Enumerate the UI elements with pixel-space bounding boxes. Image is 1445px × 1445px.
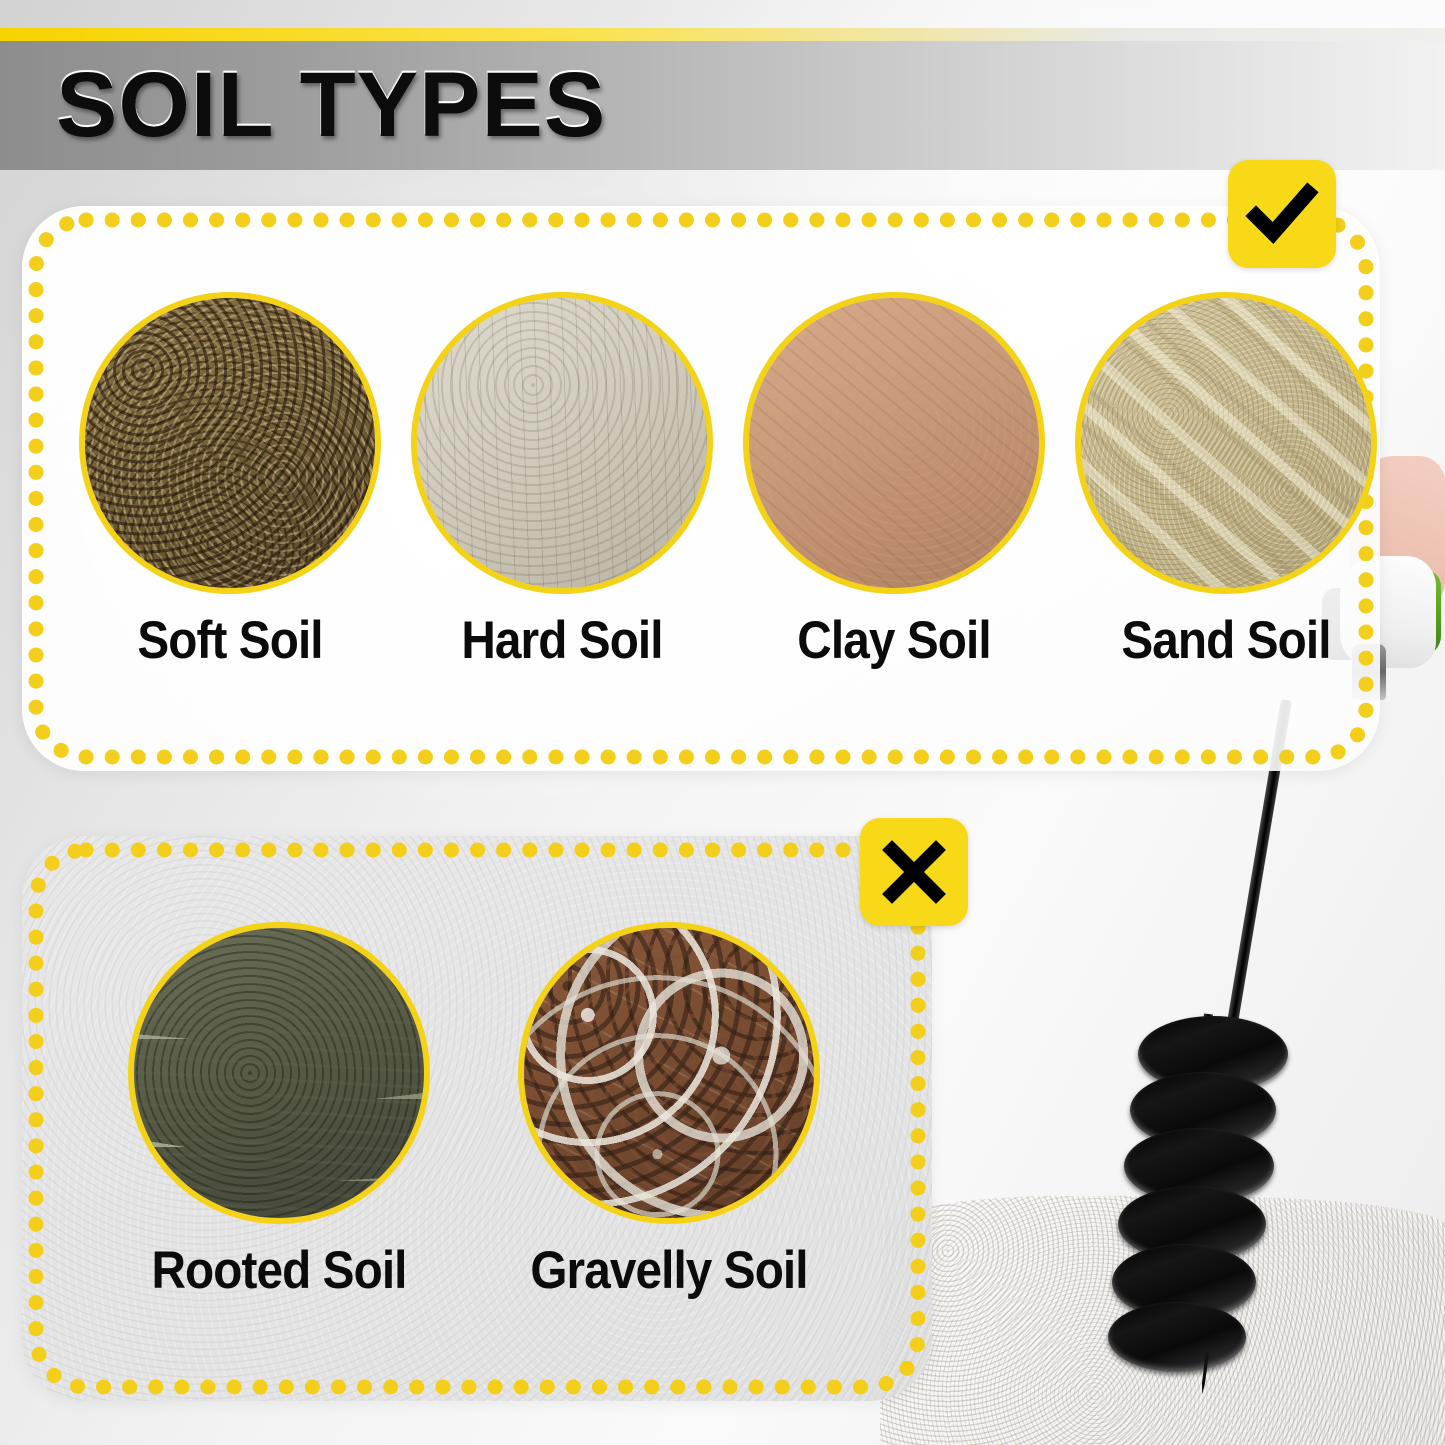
rooted-soil-texture — [134, 928, 424, 1218]
sand-soil-photo — [1075, 292, 1377, 594]
soil-label: Clay Soil — [745, 610, 1044, 671]
auger-flight — [1138, 1016, 1288, 1092]
auger-tip — [1193, 1347, 1216, 1395]
soil-card[interactable]: Rooted Soil — [84, 922, 474, 1301]
infographic-canvas: SOIL TYPES — [0, 0, 1445, 1445]
title-banner: SOIL TYPES — [0, 28, 1445, 170]
soil-label: Sand Soil — [1077, 610, 1376, 671]
soft-soil-photo — [79, 292, 381, 594]
sandy-ground — [880, 1196, 1445, 1445]
soil-label: Gravelly Soil — [494, 1240, 845, 1301]
rooted-soil-photo — [128, 922, 430, 1224]
soil-label: Rooted Soil — [104, 1240, 455, 1301]
ground-grain-texture — [880, 1196, 1445, 1445]
soil-card[interactable]: Soft Soil — [64, 292, 396, 671]
auger-flight — [1118, 1186, 1266, 1262]
soil-card[interactable]: Clay Soil — [728, 292, 1060, 671]
suitable-soils-panel: Soft Soil Hard Soil Clay Soil Sand Soil — [22, 206, 1380, 771]
soil-label: Soft Soil — [81, 610, 380, 671]
unsuitable-soils-panel: Rooted Soil Gravelly Soil — [22, 836, 932, 1401]
soil-label: Hard Soil — [413, 610, 712, 671]
sand-soil-texture — [1081, 298, 1371, 588]
spiral-auger-drill-bit — [1132, 1010, 1302, 1400]
auger-core-rod — [1160, 1013, 1213, 1371]
soil-card[interactable]: Hard Soil — [396, 292, 728, 671]
soil-card[interactable]: Gravelly Soil — [474, 922, 864, 1301]
gravelly-soil-photo — [518, 922, 820, 1224]
clay-soil-photo — [743, 292, 1045, 594]
suitable-check-badge[interactable] — [1228, 160, 1336, 268]
hard-soil-texture — [417, 298, 707, 588]
soil-card[interactable]: Sand Soil — [1060, 292, 1392, 671]
gravelly-soil-texture — [524, 928, 814, 1218]
page-title: SOIL TYPES — [56, 59, 606, 151]
unsuitable-soil-row: Rooted Soil Gravelly Soil — [84, 922, 864, 1301]
auger-flight — [1130, 1072, 1276, 1148]
unsuitable-cross-badge[interactable] — [860, 818, 968, 926]
auger-flight — [1108, 1302, 1246, 1372]
header-accent-rule — [0, 28, 1445, 41]
hard-soil-photo — [411, 292, 713, 594]
auger-flight — [1112, 1244, 1256, 1320]
suitable-soil-row: Soft Soil Hard Soil Clay Soil Sand Soil — [64, 292, 1392, 671]
soft-soil-texture — [85, 298, 375, 588]
auger-flight — [1124, 1128, 1274, 1204]
clay-soil-texture — [749, 298, 1039, 588]
check-icon — [1245, 177, 1319, 251]
cross-icon — [882, 840, 946, 904]
